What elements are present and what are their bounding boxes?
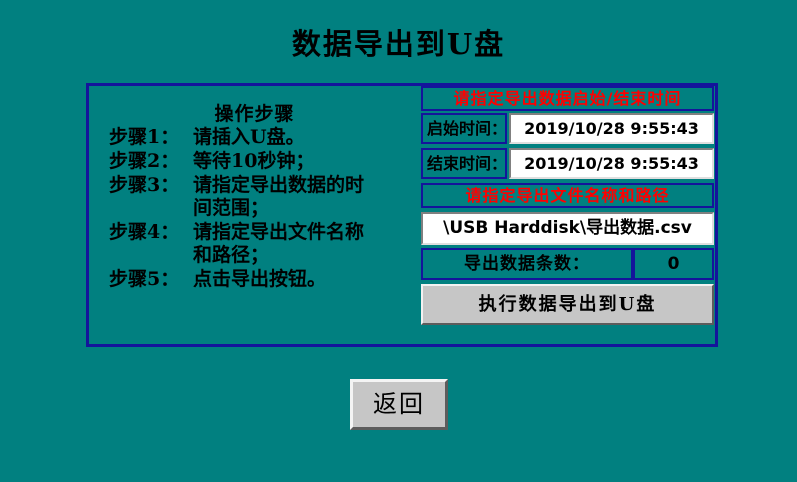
main-panel: 操作步骤 步骤1： 请插入U盘。 步骤2： 等待10秒钟； 步骤3： 请指定导出…: [86, 83, 718, 347]
file-path-banner: 请指定导出文件名称和路径: [421, 183, 714, 208]
start-time-row: 启始时间： 2019/10/28 9:55:43: [421, 113, 714, 144]
steps-heading: 操作步骤: [89, 103, 420, 125]
export-count-value: 0: [633, 248, 714, 280]
export-count-row: 导出数据条数： 0: [421, 248, 714, 280]
step-label-5: 步骤5：: [89, 268, 193, 291]
export-panel: 请指定导出数据启始/结束时间 启始时间： 2019/10/28 9:55:43 …: [420, 86, 715, 344]
export-to-usb-button[interactable]: 执行数据导出到U盘: [421, 284, 714, 325]
step-text-2: 等待10秒钟；: [193, 150, 420, 173]
end-time-label: 结束时间：: [421, 148, 507, 179]
step-text-3: 请指定导出数据的时 间范围；: [193, 174, 420, 220]
steps-panel: 操作步骤 步骤1： 请插入U盘。 步骤2： 等待10秒钟； 步骤3： 请指定导出…: [89, 86, 420, 344]
step-item-5: 步骤5： 点击导出按钮。: [89, 268, 420, 291]
step-text-1: 请插入U盘。: [193, 126, 420, 149]
return-button[interactable]: 返回: [350, 379, 448, 430]
step-item-3: 步骤3： 请指定导出数据的时 间范围；: [89, 174, 420, 220]
step-label-3: 步骤3：: [89, 174, 193, 197]
step-label-2: 步骤2：: [89, 150, 193, 173]
step-item-2: 步骤2： 等待10秒钟；: [89, 150, 420, 173]
end-time-input[interactable]: 2019/10/28 9:55:43: [509, 148, 714, 179]
step-item-1: 步骤1： 请插入U盘。: [89, 126, 420, 149]
step-label-4: 步骤4：: [89, 221, 193, 244]
step-item-4: 步骤4： 请指定导出文件名称 和路径；: [89, 221, 420, 267]
start-time-input[interactable]: 2019/10/28 9:55:43: [509, 113, 714, 144]
step-text-4: 请指定导出文件名称 和路径；: [193, 221, 420, 267]
page-title: 数据导出到U盘: [0, 27, 797, 61]
file-path-input[interactable]: \USB Harddisk\导出数据.csv: [421, 212, 714, 245]
start-time-label: 启始时间：: [421, 113, 507, 144]
time-range-banner: 请指定导出数据启始/结束时间: [421, 86, 714, 111]
end-time-row: 结束时间： 2019/10/28 9:55:43: [421, 148, 714, 179]
step-label-1: 步骤1：: [89, 126, 193, 149]
export-count-label: 导出数据条数：: [421, 248, 633, 280]
step-text-5: 点击导出按钮。: [193, 268, 420, 291]
